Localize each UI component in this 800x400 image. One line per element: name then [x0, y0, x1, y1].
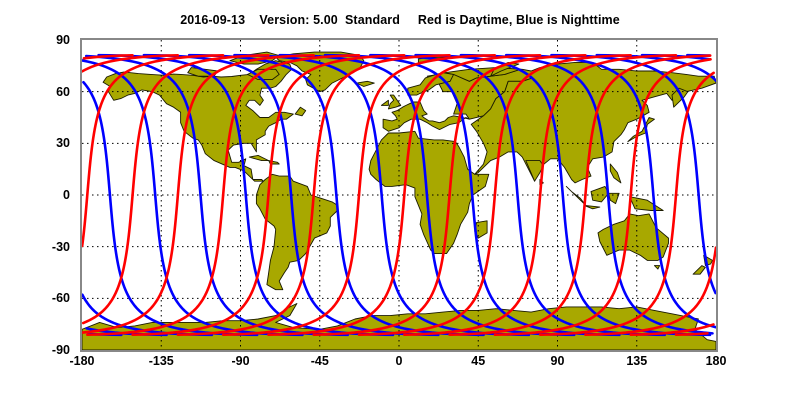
y-tick-label: 60	[6, 85, 70, 99]
y-tick-label: -60	[6, 291, 70, 305]
y-tick-label: 0	[6, 188, 70, 202]
x-tick-label: 45	[448, 354, 508, 368]
x-tick-label: 0	[369, 354, 429, 368]
x-tick-label: -180	[52, 354, 112, 368]
daytime-ground-track-segment	[676, 333, 707, 334]
y-tick-label: -30	[6, 240, 70, 254]
x-tick-label: -90	[211, 354, 271, 368]
ground-track-chart: 2016-09-13 Version: 5.00 Standard Red is…	[0, 0, 800, 400]
x-tick-label: 135	[607, 354, 667, 368]
world-map-with-ground-tracks	[82, 40, 716, 350]
y-tick-label: 90	[6, 33, 70, 47]
page-title: 2016-09-13 Version: 5.00 Standard Red is…	[0, 13, 800, 27]
x-tick-label: -45	[290, 354, 350, 368]
x-tick-label: 180	[686, 354, 746, 368]
y-tick-label: 30	[6, 136, 70, 150]
x-tick-label: 90	[528, 354, 588, 368]
x-tick-label: -135	[131, 354, 191, 368]
